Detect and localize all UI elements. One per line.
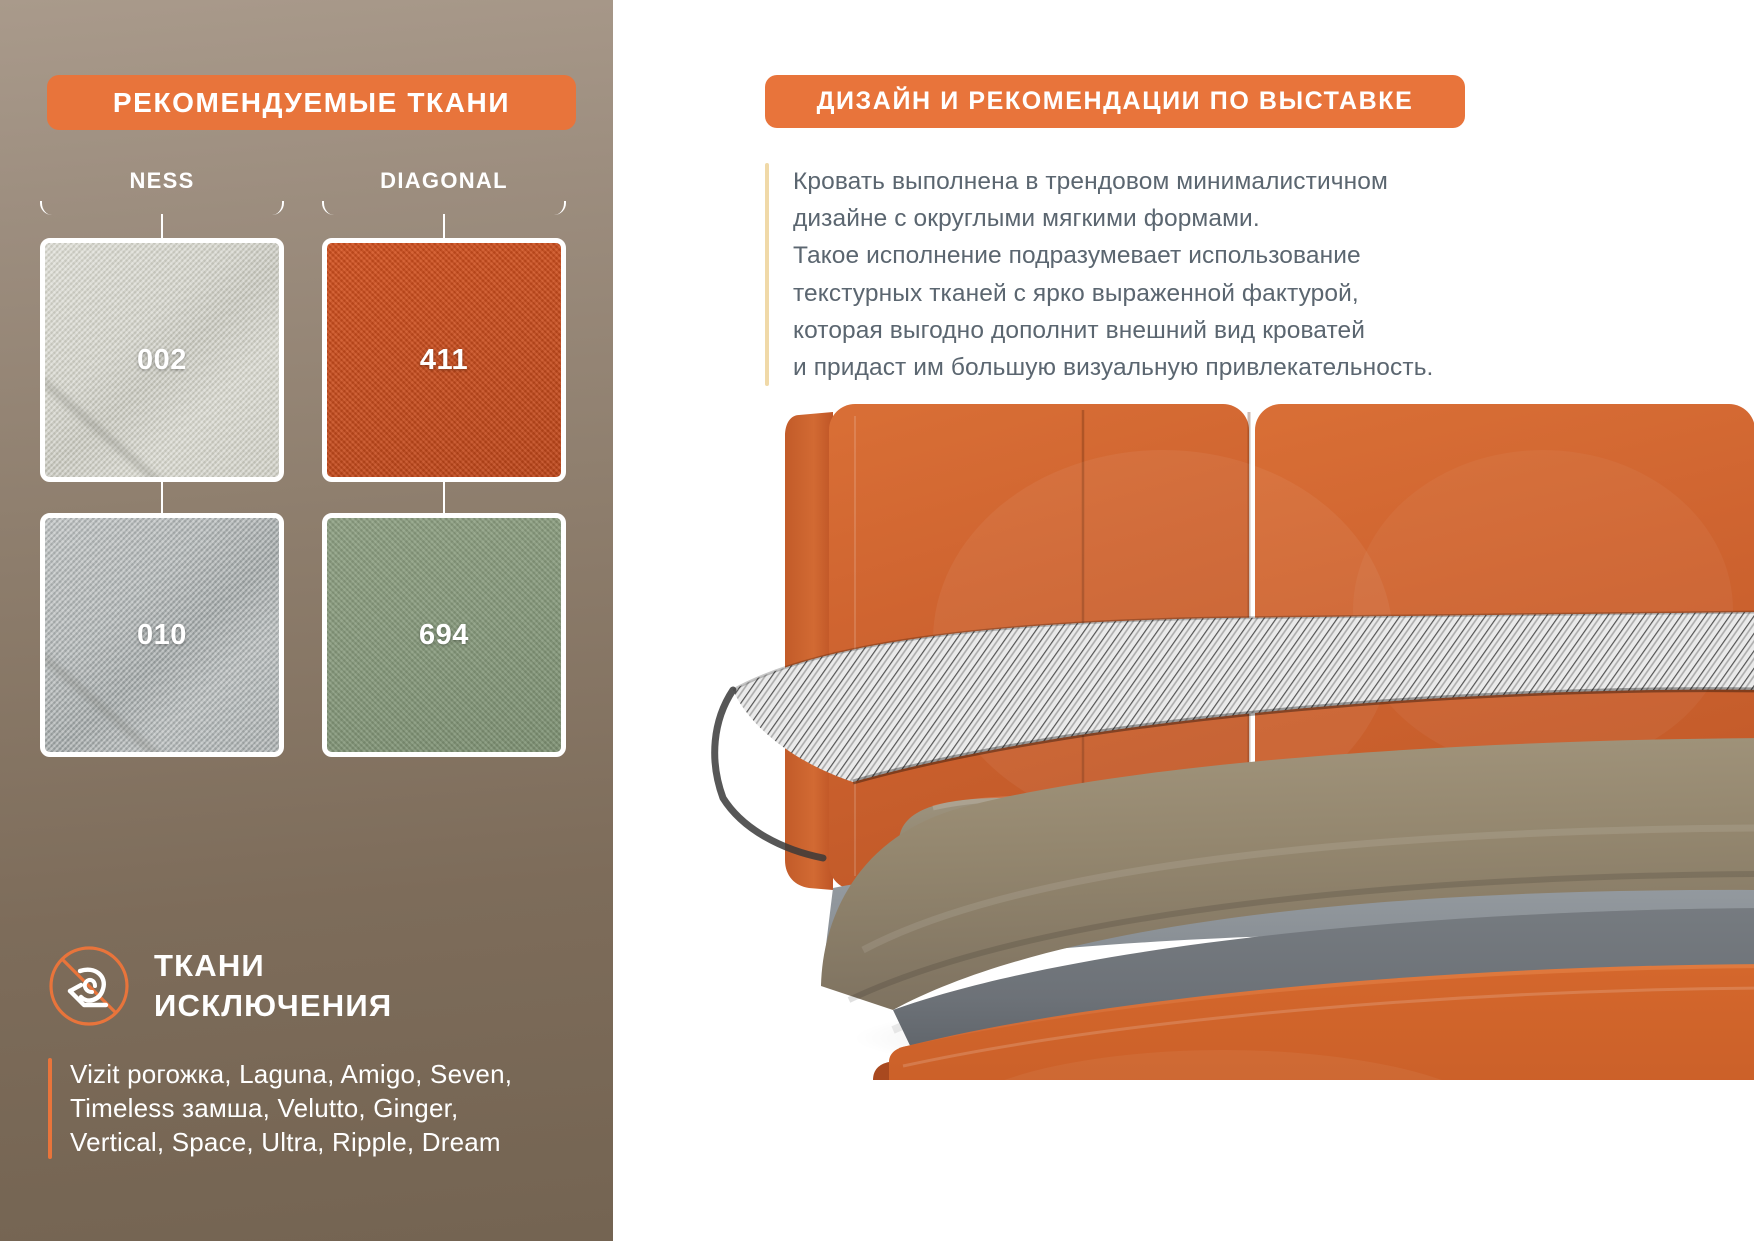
fabric-swatch-694[interactable]: 694 [322,513,566,757]
brace-stem-ness [161,214,163,240]
design-description-block: Кровать выполнена в трендовом минималист… [765,163,1433,386]
fabric-group-label-ness: NESS [40,168,284,194]
brace-ness [40,201,284,215]
swatch-connector-ness [161,482,163,514]
design-description-text: Кровать выполнена в трендовом минималист… [793,163,1433,386]
slide-root: РЕКОМЕНДУЕМЫЕ ТКАНИ NESS DIAGONAL 002 01… [0,0,1754,1241]
recommended-fabrics-panel: РЕКОМЕНДУЕМЫЕ ТКАНИ NESS DIAGONAL 002 01… [0,0,613,1241]
fabric-swatch-code: 411 [420,344,468,377]
fabric-swatch-002[interactable]: 002 [40,238,284,482]
excluded-fabrics-list: Vizit рогожка, Laguna, Amigo, Seven, Tim… [70,1058,512,1159]
design-recommendations-panel: ДИЗАЙН И РЕКОМЕНДАЦИИ ПО ВЫСТАВКЕ Кроват… [613,0,1754,1241]
design-recommendations-badge: ДИЗАЙН И РЕКОМЕНДАЦИИ ПО ВЫСТАВКЕ [765,75,1465,128]
upholstered-bed-photo [703,390,1754,1080]
excluded-fabrics-title-line2: ИСКЛЮЧЕНИЯ [154,986,392,1026]
fabric-swatch-code: 010 [137,619,187,652]
excluded-fabrics-header: ТКАНИ ИСКЛЮЧЕНИЯ [48,945,392,1027]
brace-diagonal [322,201,566,215]
fabric-swatch-code: 694 [419,619,469,652]
excluded-fabrics-list-block: Vizit рогожка, Laguna, Amigo, Seven, Tim… [48,1058,512,1159]
fabric-group-label-diagonal: DIAGONAL [322,168,566,194]
excluded-fabrics-title-line1: ТКАНИ [154,948,265,983]
brace-stem-diagonal [443,214,445,240]
no-fabric-roll-icon [48,945,130,1027]
fabric-swatch-411[interactable]: 411 [322,238,566,482]
fabric-swatch-code: 002 [137,344,187,377]
bed-headboard-side [785,412,833,890]
recommended-fabrics-badge: РЕКОМЕНДУЕМЫЕ ТКАНИ [47,75,576,130]
fabric-swatch-010[interactable]: 010 [40,513,284,757]
excluded-fabrics-title: ТКАНИ ИСКЛЮЧЕНИЯ [154,946,392,1025]
excluded-fabrics-accent-bar [48,1058,52,1159]
design-description-accent-bar [765,163,769,386]
swatch-connector-diagonal [443,482,445,514]
bed-base-side [873,1062,889,1080]
